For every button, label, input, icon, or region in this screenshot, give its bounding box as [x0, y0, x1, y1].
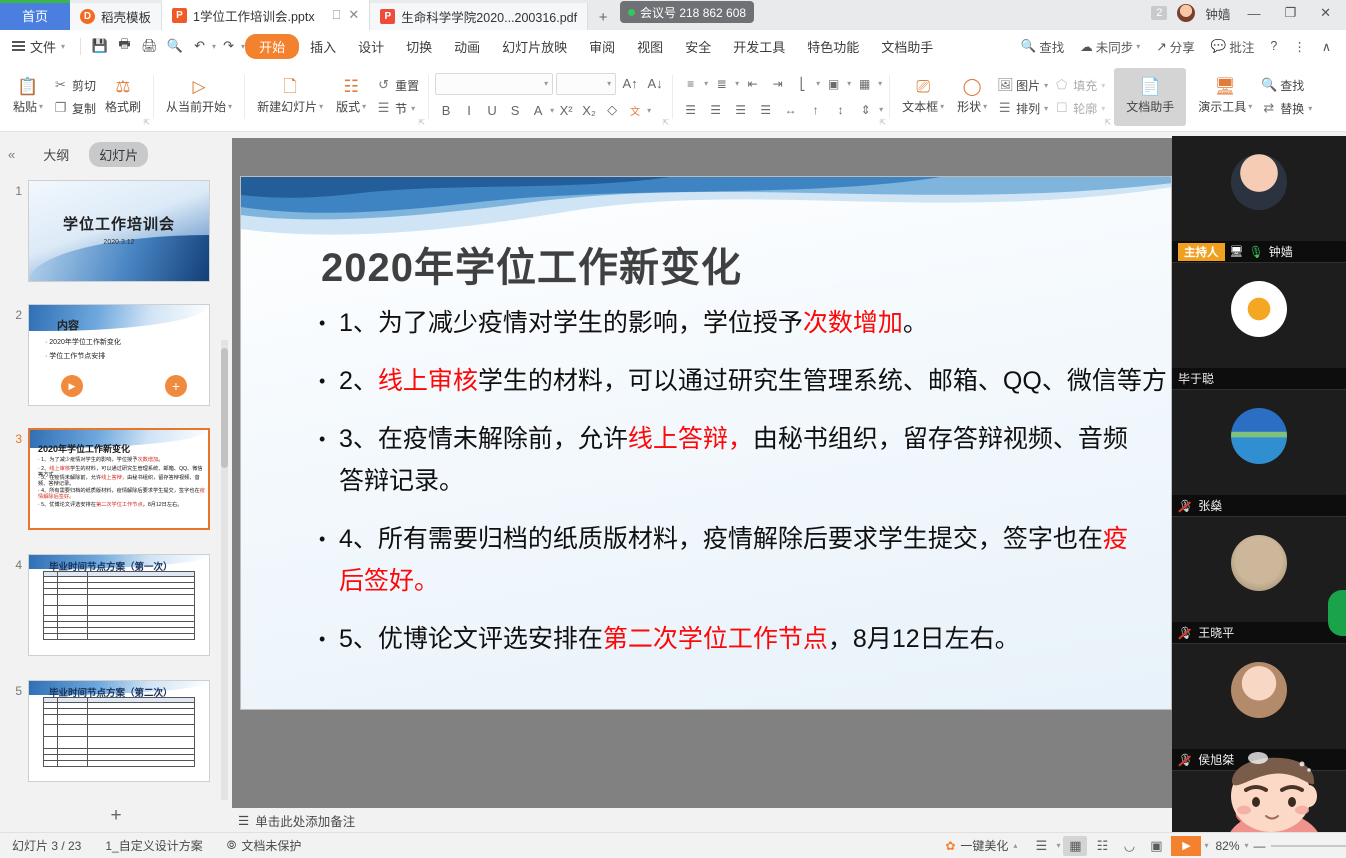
undo-icon[interactable]: ↶ — [187, 35, 212, 57]
chevron-down-icon: ▾ — [1044, 81, 1048, 90]
collapse-ribbon-icon[interactable]: ∧ — [1315, 36, 1338, 57]
paste-button[interactable]: 📋 粘贴▾ — [6, 78, 50, 115]
status-dot-icon — [628, 9, 635, 16]
subscript-button[interactable]: X₂ — [578, 100, 600, 121]
bullet-icon: • — [319, 299, 339, 347]
chevron-down-icon: ▾ — [411, 104, 415, 113]
menu-item-animation[interactable]: 动画 — [443, 34, 491, 59]
shape-button[interactable]: ◯ 形状▾ — [950, 78, 994, 115]
sync-label: 未同步 — [1096, 37, 1134, 56]
more-options-icon[interactable]: ⋮ — [1286, 36, 1313, 57]
list-item: • 3、在疫情未解除前，允许线上答辩，由秘书组织，留存答辩视频、音频 — [319, 415, 1172, 463]
chevron-down-icon: ▾ — [607, 79, 611, 88]
tab-label: 1学位工作培训会.pptx — [193, 6, 315, 25]
reset-icon: ↺ — [376, 77, 391, 93]
align-center-button[interactable]: ☰ — [704, 99, 727, 120]
thumb-bullet: · 学位工作节点安排 — [45, 351, 105, 361]
chevron-down-icon[interactable]: ▾ — [704, 79, 708, 88]
participant-name: 张燊 — [1198, 497, 1222, 514]
superscript-button[interactable]: X² — [555, 100, 577, 121]
slide-body: • 1、为了减少疫情对学生的影响，学位授予次数增加。 • 2、线上审核学生的材料… — [319, 299, 1172, 673]
home-tab-label: 首页 — [22, 6, 48, 25]
layers-icon: ☰ — [997, 100, 1012, 116]
justify-button[interactable]: ☰ — [754, 99, 777, 120]
list-item: • 2、线上审核学生的材料，可以通过研究生管理系统、邮箱、QQ、微信等方 — [319, 357, 1172, 405]
search-icon: 🔍 — [1021, 39, 1037, 54]
shield-icon: ⦾ — [227, 838, 237, 853]
slide-thumbnail-list[interactable]: 1 学位工作培训会 2020.3.12 2 内容 · 2020年学位工作新变化 … — [0, 170, 232, 800]
participant-bar: 🎙 王晓平 — [1172, 622, 1346, 643]
redo-icon[interactable]: ↷ — [216, 35, 241, 57]
divider — [80, 38, 81, 55]
meeting-number-badge[interactable]: 会议号 218 862 608 — [620, 1, 754, 23]
tab-slides[interactable]: 幻灯片 — [89, 142, 148, 167]
strikethrough-button[interactable]: S — [504, 100, 526, 121]
start-slideshow-button[interactable]: ▶ — [1171, 836, 1201, 856]
slide-thumbnail[interactable]: 学位工作培训会 2020.3.12 — [28, 180, 210, 282]
find-ribbon-button[interactable]: 🔍 查找 — [1258, 76, 1315, 95]
thumb-add-icon[interactable]: + — [165, 375, 187, 397]
arrange-label: 排列 — [1016, 100, 1040, 117]
meeting-participants-panel[interactable]: 主持人 🖥 🎙 钟嫱 毕于聪 🎙 张燊 🎙 王晓平 — [1172, 136, 1346, 836]
present-tools-label: 演示工具 — [1198, 98, 1246, 115]
copy-label: 复制 — [72, 100, 96, 117]
participant-bar: 🎙 侯旭桀 — [1172, 749, 1346, 770]
wps-presentation-window: 首页 D 稻壳模板 P 1学位工作培训会.pptx ⎕ ✕ P 生命科学学院20… — [0, 0, 1346, 858]
mic-muted-icon: 🎙 — [1178, 626, 1193, 640]
replace-label: 替换 — [1280, 100, 1304, 117]
window-controls: 2 钟嫱 — ❐ ✕ — [1151, 0, 1346, 30]
text-direction-button[interactable]: ⎣ — [791, 73, 814, 94]
chevron-down-icon: ▾ — [983, 102, 987, 111]
menu-item-view[interactable]: 视图 — [626, 34, 674, 59]
menu-item-doc-assistant[interactable]: 文档助手 — [870, 34, 944, 59]
chevron-down-icon[interactable]: ▾ — [816, 79, 820, 88]
avatar — [1231, 281, 1287, 337]
design-scheme-label[interactable]: 1_自定义设计方案 — [93, 837, 214, 854]
menu-item-insert[interactable]: 插入 — [299, 34, 347, 59]
thumb-table — [43, 697, 195, 767]
doc-assistant-group[interactable]: 📄 文档助手 — [1114, 68, 1186, 126]
chevron-down-icon: ▾ — [1044, 104, 1048, 113]
start-current-label: 从当前开始 — [166, 98, 226, 115]
avatar — [1231, 535, 1287, 591]
chevron-down-icon[interactable]: ▾ — [879, 105, 883, 114]
textbox-button[interactable]: ⎚ 文本框▾ — [896, 78, 950, 115]
shape-label: 形状 — [957, 98, 981, 115]
mic-icon: 🎙 — [1248, 245, 1263, 259]
thumb-date: 2020.3.12 — [29, 239, 209, 246]
fill-icon: ⬠ — [1054, 77, 1069, 93]
format-painter-button[interactable]: ⚖ 格式刷 — [99, 78, 147, 115]
thumb-title: 2020年学位工作新变化 — [38, 442, 130, 455]
participant-bar: 主持人 🖥 🎙 钟嫱 — [1172, 241, 1346, 262]
picture-icon: 🖼 — [997, 77, 1012, 93]
help-button[interactable]: ? — [1263, 36, 1284, 56]
sync-status-button[interactable]: ☁ 未同步 ▾ — [1073, 34, 1147, 59]
user-name: 钟嫱 — [1205, 4, 1230, 23]
slide-panel-header: « 大纲 幻灯片 — [0, 138, 232, 170]
new-slide-label: 新建幻灯片 — [257, 98, 317, 115]
slide-sorter-view-button[interactable]: ☷ — [1090, 836, 1114, 856]
file-menu[interactable]: 文件 ▾ — [0, 37, 74, 56]
slide-thumbnail[interactable]: 毕业时间节点方案（第一次） — [28, 554, 210, 656]
notes-view-button[interactable]: ▣ — [1144, 836, 1168, 856]
comment-icon: 💬 — [1211, 39, 1227, 54]
zoom-slider-track[interactable] — [1271, 845, 1346, 847]
outline-label: 轮廓 — [1073, 100, 1097, 117]
cloud-icon: ☁ — [1080, 39, 1093, 54]
underline-button[interactable]: U — [481, 100, 503, 121]
mic-muted-icon: 🎙 — [1178, 753, 1193, 767]
slide-number: 1 — [0, 180, 22, 198]
outline-button[interactable]: ☐ 轮廓 ▾ — [1051, 99, 1108, 118]
chevron-down-icon[interactable]: ▾ — [847, 79, 851, 88]
format-painter-label: 格式刷 — [105, 98, 141, 115]
slide-number: 4 — [0, 554, 22, 572]
clear-format-button[interactable]: ◇ — [601, 100, 623, 121]
picture-button[interactable]: 🖼 图片 ▾ — [994, 76, 1051, 95]
dialog-launcher-icon[interactable]: ⇱ — [662, 118, 669, 127]
print-preview-icon[interactable]: 🖶 — [112, 35, 137, 57]
present-group: ▷ 从当前开始▾ — [154, 65, 244, 129]
list-item[interactable]: 2 内容 · 2020年学位工作新变化 · 学位工作节点安排 ▶ + — [0, 298, 232, 412]
chevron-down-icon[interactable]: ▾ — [1245, 841, 1249, 850]
participant-cell[interactable]: 毕于聪 — [1172, 263, 1346, 390]
projector-icon: 🖥 — [1214, 78, 1236, 96]
outline-icon: ☐ — [1054, 100, 1069, 116]
chevron-down-icon: ▾ — [940, 102, 944, 111]
list-item-continuation: 后签好。 — [319, 557, 1172, 605]
avatar — [1231, 154, 1287, 210]
chevron-down-icon: ▾ — [1101, 104, 1105, 113]
paste-label: 粘贴 — [13, 98, 37, 115]
menu-item-transition[interactable]: 切换 — [395, 34, 443, 59]
font-color-button[interactable]: A — [527, 100, 549, 121]
numbered-list-button[interactable]: ≣ — [710, 73, 733, 94]
magic-wand-icon: ✿ — [945, 839, 955, 853]
meeting-number-label: 会议号 218 862 608 — [640, 4, 746, 21]
chevron-down-icon: ▾ — [228, 102, 232, 111]
screen-share-icon: 🖥 — [1230, 245, 1244, 258]
textbox-icon: ⎚ — [916, 78, 930, 96]
dialog-launcher-icon[interactable]: ⇱ — [143, 118, 150, 127]
paintbrush-icon: ⚖ — [115, 78, 130, 96]
menu-item-devtools[interactable]: 开发工具 — [722, 34, 796, 59]
chevron-down-icon[interactable]: ▾ — [1056, 841, 1060, 850]
list-item: • 5、优博论文评选安排在第二次学位工作节点，8月12日左右。 — [319, 615, 1172, 663]
close-icon[interactable]: ✕ — [348, 7, 359, 23]
share-icon: ↗ — [1156, 39, 1166, 54]
dialog-launcher-icon[interactable]: ⇱ — [418, 118, 425, 127]
file-menu-label: 文件 — [30, 37, 56, 56]
close-window-button[interactable]: ✕ — [1313, 5, 1338, 21]
align-middle-button[interactable]: ↕ — [829, 99, 852, 120]
status-badge: 主持人 — [1178, 243, 1225, 261]
font-name-input[interactable]: ▾ — [435, 73, 553, 95]
participant-cell[interactable]: 🎙 张燊 — [1172, 390, 1346, 517]
find-label: 查找 — [1280, 77, 1304, 94]
thumb-line: · 4、所有需要归档的纸质版材料，疫情解除后要求学生提交，签字也在疫情解除后签好… — [38, 488, 206, 500]
align-right-button[interactable]: ☰ — [729, 99, 752, 120]
layout-icon: ☷ — [343, 78, 358, 96]
participant-bar: 🎙 张燊 — [1172, 495, 1346, 516]
bullet-list-button[interactable]: ≡ — [679, 73, 702, 94]
view-menu-icon[interactable]: ☰ — [1029, 836, 1053, 856]
tab-pptx-active[interactable]: P 1学位工作培训会.pptx ⎕ ✕ — [162, 0, 370, 30]
chevron-down-icon: ▾ — [1101, 81, 1105, 90]
textbox-label: 文本框 — [902, 98, 938, 115]
grow-font-button[interactable]: A↑ — [619, 73, 641, 94]
dialog-launcher-icon[interactable]: ⇱ — [879, 118, 886, 127]
chevron-down-icon[interactable]: ▾ — [1204, 841, 1208, 850]
participant-name: 侯旭桀 — [1198, 751, 1234, 768]
list-item: • 4、所有需要归档的纸质版材料，疫情解除后要求学生提交，签字也在疫 — [319, 515, 1172, 563]
participant-cell[interactable]: 🎙 侯旭桀 — [1172, 644, 1346, 771]
comment-label: 批注 — [1229, 37, 1254, 56]
picture-label: 图片 — [1016, 77, 1040, 94]
tab-outline[interactable]: 大纲 — [33, 142, 79, 167]
notification-count[interactable]: 2 — [1151, 6, 1167, 20]
layout-button[interactable]: ☷ 版式▾ — [329, 78, 373, 115]
search-doc-icon[interactable]: 🔍 — [162, 35, 187, 57]
find-button[interactable]: 🔍 查找 — [1014, 34, 1072, 59]
copy-button[interactable]: ❐ 复制 — [50, 99, 99, 118]
replace-button[interactable]: ⇄ 替换 ▾ — [1258, 99, 1315, 118]
chevron-down-icon: ▾ — [1308, 104, 1312, 113]
zoom-level-label: 82% — [1215, 839, 1239, 853]
cut-label: 剪切 — [72, 77, 96, 94]
print-icon[interactable]: 🖨 — [137, 35, 162, 57]
ribbon-toolbar: 📋 粘贴▾ ✂ 剪切 ❐ 复制 ⚖ 格式刷 ⇱ ▷ — [0, 62, 1346, 132]
menu-item-features[interactable]: 特色功能 — [796, 34, 870, 59]
start-from-current-button[interactable]: ▷ 从当前开始▾ — [160, 78, 238, 115]
find-label: 查找 — [1039, 37, 1064, 56]
paragraph-group: ≡ ▾ ≣ ▾ ⇤ ⇥ ⎣ ▾ ▣ ▾ ▦ ▾ ☰ ☰ ☰ ☰ — [673, 65, 889, 129]
chevron-down-icon: ▾ — [1136, 42, 1140, 51]
chevron-down-icon[interactable]: ▾ — [878, 79, 882, 88]
status-bar: 幻灯片 3 / 23 1_自定义设计方案 ⦾ 文档未保护 ✿ 一键美化 ▴ ☰ … — [0, 832, 1346, 858]
meeting-side-tab[interactable] — [1328, 590, 1346, 636]
menu-item-design[interactable]: 设计 — [347, 34, 395, 59]
cut-button[interactable]: ✂ 剪切 — [50, 76, 99, 95]
hamburger-icon — [12, 39, 25, 54]
present-tools-button[interactable]: 🖥 演示工具▾ — [1192, 78, 1258, 115]
notes-icon: ☰ — [238, 813, 249, 828]
copy-icon: ❐ — [53, 100, 68, 116]
avatar — [1231, 662, 1287, 718]
slide-number: 5 — [0, 680, 22, 698]
new-slide-icon: 🗋 — [283, 78, 297, 96]
shrink-font-button[interactable]: A↓ — [644, 73, 666, 94]
bullet-icon: • — [319, 615, 339, 663]
dialog-launcher-icon[interactable]: ⇱ — [1105, 118, 1112, 127]
add-slide-button[interactable]: + — [0, 800, 232, 832]
thumb-bullet: · 2020年学位工作新变化 — [45, 337, 121, 347]
reset-label: 重置 — [395, 77, 419, 94]
menu-item-slideshow[interactable]: 幻灯片放映 — [491, 34, 578, 59]
drawing-group: ⎚ 文本框▾ ◯ 形状▾ 🖼 图片 ▾ ☰ 排列 ▾ — [890, 65, 1114, 129]
list-item: • 1、为了减少疫情对学生的影响，学位授予次数增加。 — [319, 299, 1172, 347]
line-spacing-button[interactable]: ⇕ — [854, 99, 877, 120]
pptx-icon: P — [172, 8, 187, 23]
chevron-down-icon: ▾ — [1248, 102, 1252, 111]
thumb-line: · 1、为了减少疫情对学生的影响，学位授予次数增加。 — [38, 457, 206, 463]
thumb-table — [43, 571, 195, 640]
chevron-down-icon[interactable]: ▾ — [647, 106, 651, 115]
doc-assistant-button[interactable]: 📄 文档助手 — [1120, 78, 1180, 115]
tab-label: 生命科学学院2020...200316.pdf — [401, 7, 577, 26]
decorative-wave — [29, 305, 209, 331]
new-slide-button[interactable]: 🗋 新建幻灯片▾ — [251, 78, 329, 115]
comment-button[interactable]: 💬 批注 — [1204, 34, 1262, 59]
menu-item-start[interactable]: 开始 — [245, 34, 299, 59]
bullet-icon: • — [319, 515, 339, 563]
chevron-down-icon: ▾ — [39, 102, 43, 111]
pinyin-guide-button[interactable]: 文 — [624, 100, 646, 121]
participant-bar: 毕于聪 — [1172, 368, 1346, 389]
tab-pdf[interactable]: P 生命科学学院2020...200316.pdf — [370, 3, 588, 30]
chevron-down-icon[interactable]: ▾ — [735, 79, 739, 88]
replace-icon: ⇄ — [1261, 100, 1276, 116]
slide-thumbnail[interactable]: 内容 · 2020年学位工作新变化 · 学位工作节点安排 ▶ + — [28, 304, 210, 406]
zoom-out-button[interactable]: — — [1254, 839, 1266, 853]
reading-view-button[interactable]: ◡ — [1117, 836, 1141, 856]
zoom-control[interactable]: 82% ▾ — + — [1211, 839, 1346, 853]
doc-assistant-label: 文档助手 — [1126, 98, 1174, 115]
scissors-icon: ✂ — [53, 77, 68, 93]
align-left-button[interactable]: ☰ — [679, 99, 702, 120]
arrange-button[interactable]: ☰ 排列 ▾ — [994, 99, 1051, 118]
play-circle-icon: ▷ — [193, 78, 206, 96]
participant-cell[interactable]: 🎙 王晓平 — [1172, 517, 1346, 644]
reset-button[interactable]: ↺ 重置 — [373, 76, 422, 95]
protection-status[interactable]: ⦾ 文档未保护 — [215, 837, 314, 854]
shapes-icon: ◯ — [963, 78, 982, 96]
menu-item-review[interactable]: 审阅 — [578, 34, 626, 59]
chevron-down-icon: ▾ — [319, 102, 323, 111]
list-item[interactable]: 5 毕业时间节点方案（第二次） — [0, 674, 232, 788]
section-icon: ☰ — [376, 100, 391, 116]
thumb-title: 内容 — [57, 317, 79, 333]
doc-assistant-icon: 📄 — [1140, 78, 1161, 96]
mic-muted-icon: 🎙 — [1178, 499, 1193, 513]
new-tab-button[interactable]: + — [588, 9, 618, 30]
italic-button[interactable]: I — [458, 100, 480, 121]
participant-name: 王晓平 — [1198, 624, 1234, 641]
slides-group: 🗋 新建幻灯片▾ ☷ 版式▾ ↺ 重置 ☰ 节 ▾ ⇱ — [245, 65, 428, 129]
tab-label: 稻壳模板 — [101, 7, 151, 26]
chevron-down-icon: ▾ — [362, 102, 366, 111]
slide-number: 3 — [0, 428, 22, 446]
list-item[interactable]: 4 毕业时间节点方案（第一次） — [0, 548, 232, 662]
chevron-down-icon[interactable]: ▾ — [550, 106, 554, 115]
menu-item-security[interactable]: 安全 — [674, 34, 722, 59]
present-tools-group: 🖥 演示工具▾ 🔍 查找 ⇄ 替换 ▾ — [1186, 65, 1321, 129]
distribute-button[interactable]: ↔ — [779, 99, 802, 120]
increase-indent-button[interactable]: ⇥ — [766, 73, 789, 94]
notes-placeholder: 单击此处添加备注 — [255, 811, 355, 830]
clipboard-icon: 📋 — [17, 78, 38, 96]
bold-button[interactable]: B — [435, 100, 457, 121]
share-button[interactable]: ↗ 分享 — [1149, 34, 1202, 59]
thumb-line: · 5、优博论文评选安排在第二次学位工作节点，8月12日左右。 — [38, 502, 206, 508]
align-top-button[interactable]: ↑ — [804, 99, 827, 120]
collapse-panel-icon[interactable]: « — [0, 147, 23, 162]
normal-view-button[interactable]: ▦ — [1063, 836, 1087, 856]
convert-smartart-button[interactable]: ▦ — [853, 73, 876, 94]
cast-icon[interactable]: ⎕ — [333, 7, 341, 23]
list-item[interactable]: 1 学位工作培训会 2020.3.12 — [0, 174, 232, 288]
tab-bar: 首页 D 稻壳模板 P 1学位工作培训会.pptx ⎕ ✕ P 生命科学学院20… — [0, 0, 1346, 30]
save-icon[interactable]: 💾 — [87, 35, 112, 57]
slide-number: 2 — [0, 304, 22, 322]
chevron-up-icon: ▴ — [1013, 841, 1017, 850]
align-text-button[interactable]: ▣ — [822, 73, 845, 94]
thumb-line: · 3、在疫情未解除前，允许线上答辩，由秘书组织，留存答辩视频、音频、答辩记录。 — [38, 475, 206, 487]
participant-name: 毕于聪 — [1178, 370, 1214, 387]
slide-thumbnail[interactable]: 毕业时间节点方案（第二次） — [28, 680, 210, 782]
thumb-play-icon[interactable]: ▶ — [61, 375, 83, 397]
avatar[interactable] — [1177, 4, 1195, 22]
fill-label: 填充 — [1073, 77, 1097, 94]
share-label: 分享 — [1170, 37, 1195, 56]
maximize-button[interactable]: ❐ — [1277, 5, 1303, 21]
beautify-button[interactable]: ✿ 一键美化 ▴ — [933, 837, 1029, 854]
minimize-button[interactable]: — — [1240, 6, 1267, 21]
section-label: 节 — [395, 100, 407, 117]
chevron-down-icon: ▾ — [61, 42, 65, 51]
slide-counter: 幻灯片 3 / 23 — [0, 837, 93, 854]
bullet-icon: • — [319, 415, 339, 463]
section-button[interactable]: ☰ 节 ▾ — [373, 99, 422, 118]
slide-editor-stage[interactable]: 2020年学位工作新变化 • 1、为了减少疫情对学生的影响，学位授予次数增加。 … — [232, 138, 1172, 808]
list-item-continuation: 答辩记录。 — [319, 457, 1172, 505]
participant-cell[interactable]: 主持人 🖥 🎙 钟嫱 — [1172, 136, 1346, 263]
decrease-indent-button[interactable]: ⇤ — [741, 73, 764, 94]
fill-button[interactable]: ⬠ 填充 ▾ — [1051, 76, 1108, 95]
home-tab[interactable]: 首页 — [0, 0, 70, 30]
bullet-icon: • — [319, 357, 339, 405]
layout-label: 版式 — [336, 98, 360, 115]
thumb-title: 学位工作培训会 — [29, 213, 209, 234]
tab-docer-template[interactable]: D 稻壳模板 — [70, 3, 162, 30]
current-slide[interactable]: 2020年学位工作新变化 • 1、为了减少疫情对学生的影响，学位授予次数增加。 … — [240, 176, 1172, 710]
avatar — [1231, 408, 1287, 464]
docer-icon: D — [80, 9, 95, 24]
font-group: ▾ ▾ A↑ A↓ B I U S A ▾ X² X₂ ◇ 文 ▾ ⇱ — [429, 65, 672, 129]
participant-name: 钟嫱 — [1269, 243, 1293, 260]
clipboard-group: 📋 粘贴▾ ✂ 剪切 ❐ 复制 ⚖ 格式刷 ⇱ — [0, 65, 153, 129]
pdf-icon: P — [380, 9, 395, 24]
menu-bar: 文件 ▾ 💾 🖶 🖨 🔍 ↶ ▾ ↷ ▾ 开始 插入 设计 切换 动画 幻灯片放… — [0, 30, 1346, 62]
font-size-input[interactable]: ▾ — [556, 73, 616, 95]
chevron-down-icon: ▾ — [544, 79, 548, 88]
search-icon: 🔍 — [1261, 77, 1276, 93]
page-title: 2020年学位工作新变化 — [321, 235, 742, 293]
list-item[interactable]: 3 2020年学位工作新变化 · 1、为了减少疫情对学生的影响，学位授予次数增加… — [0, 422, 232, 536]
slide-thumbnail-selected[interactable]: 2020年学位工作新变化 · 1、为了减少疫情对学生的影响，学位授予次数增加。 … — [28, 428, 210, 530]
